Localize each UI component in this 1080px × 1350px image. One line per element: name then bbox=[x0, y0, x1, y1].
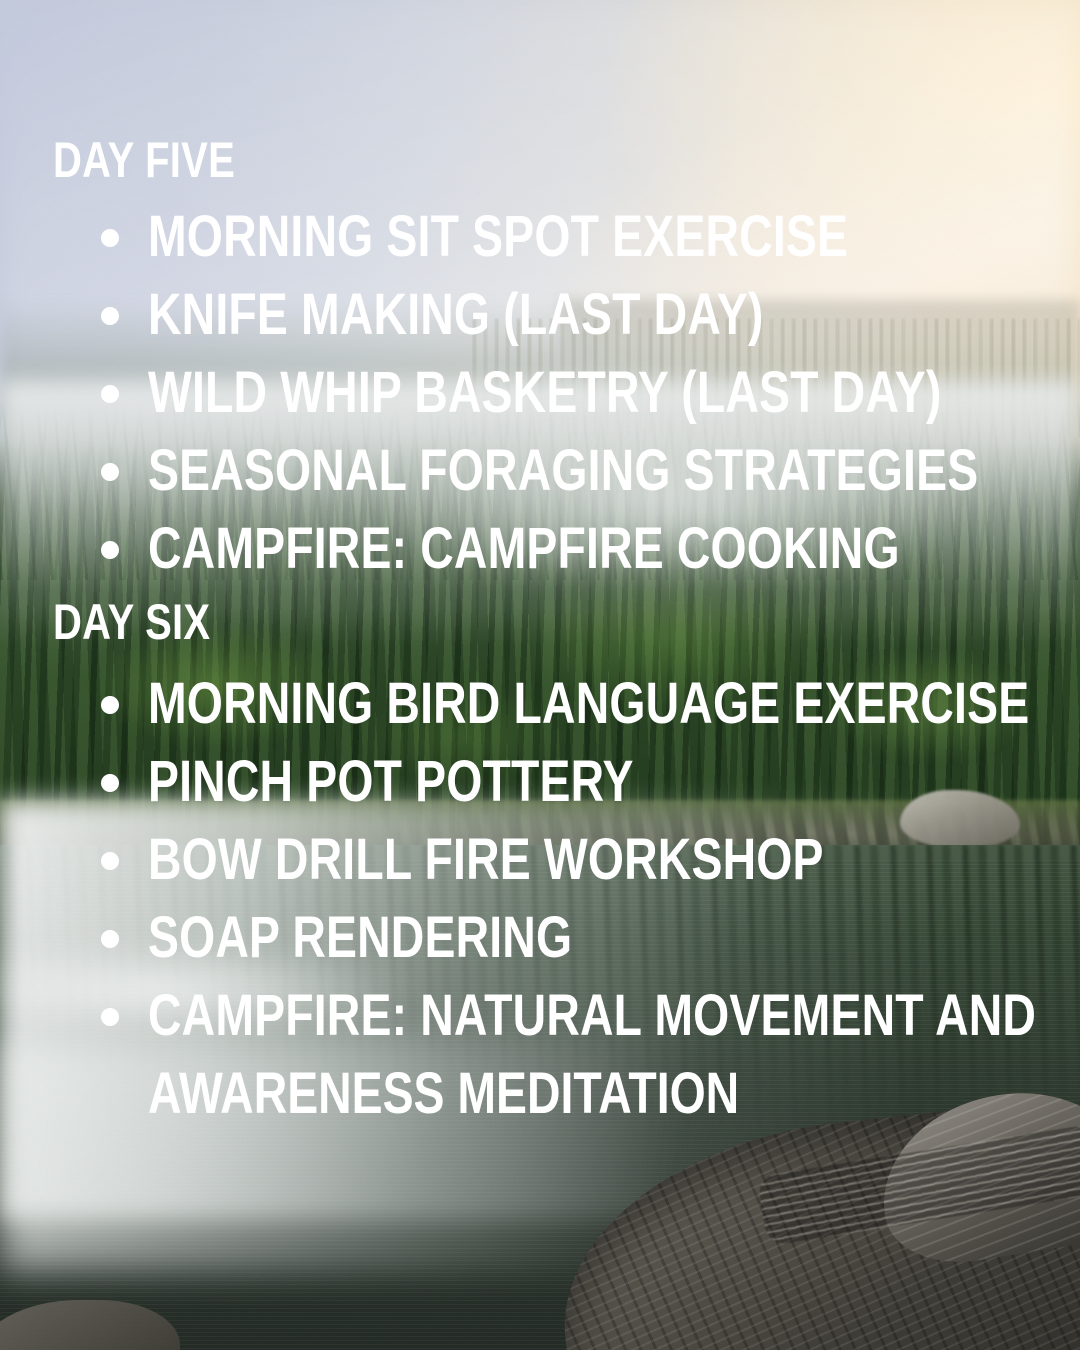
bullet-dot-icon bbox=[101, 385, 119, 403]
list-item: MORNING BIRD LANGUAGE EXERCISE bbox=[0, 666, 1080, 744]
list-item: CAMPFIRE: CAMPFIRE COOKING bbox=[0, 511, 1080, 589]
bullet-dot-icon bbox=[101, 229, 119, 247]
list-item-label: CAMPFIRE: NATURAL MOVEMENT AND bbox=[148, 977, 862, 1055]
day-six-heading: DAY SIX bbox=[53, 597, 210, 647]
list-item-label: SEASONAL FORAGING STRATEGIES bbox=[148, 432, 862, 510]
list-item-label: WILD WHIP BASKETRY (LAST DAY) bbox=[148, 354, 862, 432]
list-item: CAMPFIRE: NATURAL MOVEMENT AND AWARENESS… bbox=[0, 978, 1080, 1134]
list-item: KNIFE MAKING (LAST DAY) bbox=[0, 277, 1080, 355]
list-item-label-continued: AWARENESS MEDITATION bbox=[148, 1055, 862, 1133]
list-item-label: MORNING SIT SPOT EXERCISE bbox=[148, 198, 862, 276]
bullet-dot-icon bbox=[101, 774, 119, 792]
list-item-label: PINCH POT POTTERY bbox=[148, 743, 862, 821]
bullet-dot-icon bbox=[101, 463, 119, 481]
bullet-dot-icon bbox=[101, 852, 119, 870]
bullet-dot-icon bbox=[101, 930, 119, 948]
bullet-dot-icon bbox=[101, 541, 119, 559]
day-five-heading: DAY FIVE bbox=[53, 135, 235, 185]
text-overlay: DAY FIVE MORNING SIT SPOT EXERCISE KNIFE… bbox=[0, 0, 1080, 1350]
list-item-label: BOW DRILL FIRE WORKSHOP bbox=[148, 821, 862, 899]
list-item-label: CAMPFIRE: CAMPFIRE COOKING bbox=[148, 510, 862, 588]
list-item-label: MORNING BIRD LANGUAGE EXERCISE bbox=[148, 665, 862, 743]
list-item: WILD WHIP BASKETRY (LAST DAY) bbox=[0, 355, 1080, 433]
list-item: BOW DRILL FIRE WORKSHOP bbox=[0, 822, 1080, 900]
list-item: MORNING SIT SPOT EXERCISE bbox=[0, 199, 1080, 277]
list-item-label: KNIFE MAKING (LAST DAY) bbox=[148, 276, 862, 354]
list-item: SEASONAL FORAGING STRATEGIES bbox=[0, 433, 1080, 511]
bullet-dot-icon bbox=[101, 307, 119, 325]
list-item-label: SOAP RENDERING bbox=[148, 899, 862, 977]
list-item: PINCH POT POTTERY bbox=[0, 744, 1080, 822]
bullet-dot-icon bbox=[101, 1008, 119, 1026]
list-item: SOAP RENDERING bbox=[0, 900, 1080, 978]
schedule-graphic: DAY FIVE MORNING SIT SPOT EXERCISE KNIFE… bbox=[0, 0, 1080, 1350]
bullet-dot-icon bbox=[101, 696, 119, 714]
